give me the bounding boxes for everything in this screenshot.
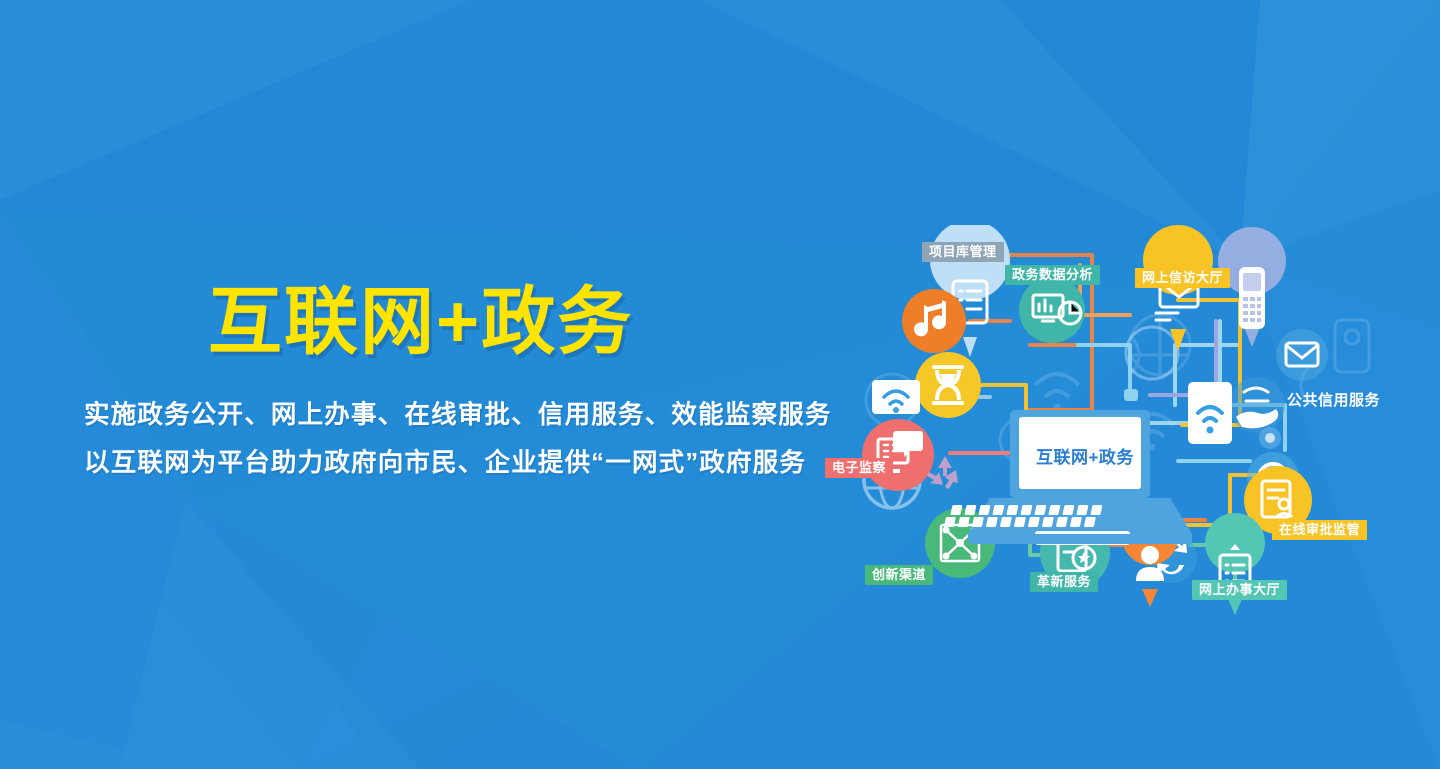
node-electronic-supervision[interactable]: [862, 419, 934, 491]
hero-copy: 互联网+政务 实施政务公开、网上办事、在线审批、信用服务、效能监察服务 以互联网…: [84, 285, 784, 476]
label-online-service-hall[interactable]: 网上办事大厅: [1192, 580, 1287, 600]
subtitle-line-1: 实施政务公开、网上办事、在线审批、信用服务、效能监察服务: [84, 403, 784, 429]
wifi-card-icon: [872, 380, 920, 414]
tablet-wifi-icon: [1188, 382, 1232, 444]
internet-plus-government-illustration: .wire{fill:none;stroke-width:4;stroke-li…: [830, 225, 1430, 635]
label-public-credit-service[interactable]: 公共信用服务: [1280, 390, 1387, 412]
page-title: 互联网+政务: [208, 285, 784, 359]
label-innovation-channel[interactable]: 创新渠道: [865, 565, 933, 585]
label-innovation-service[interactable]: 革新服务: [1030, 572, 1098, 592]
node-online-petition[interactable]: [1143, 225, 1213, 351]
label-project-library[interactable]: 项目库管理: [922, 242, 1004, 262]
gear-icon: [1259, 427, 1281, 449]
laptop-screen-label: 互联网+政务: [1036, 443, 1134, 468]
hand-credit-icon: [1229, 377, 1285, 433]
subtitle-line-2: 以互联网为平台助力政府向市民、企业提供“一网式”政府服务: [84, 451, 784, 477]
mail-icon: [1276, 329, 1328, 381]
label-online-petition[interactable]: 网上信访大厅: [1135, 268, 1230, 288]
node-data-analysis[interactable]: [1019, 277, 1085, 343]
music-note-icon: [902, 289, 966, 353]
hourglass-icon: [915, 352, 981, 418]
label-electronic-supervision[interactable]: 电子监察: [825, 458, 893, 478]
globe-icon: [1126, 327, 1178, 379]
label-approval-supervision[interactable]: 在线审批监管: [1272, 520, 1367, 540]
label-data-analysis[interactable]: 政务数据分析: [1005, 265, 1100, 285]
hero-banner: 互联网+政务 实施政务公开、网上办事、在线审批、信用服务、效能监察服务 以互联网…: [0, 0, 1440, 769]
